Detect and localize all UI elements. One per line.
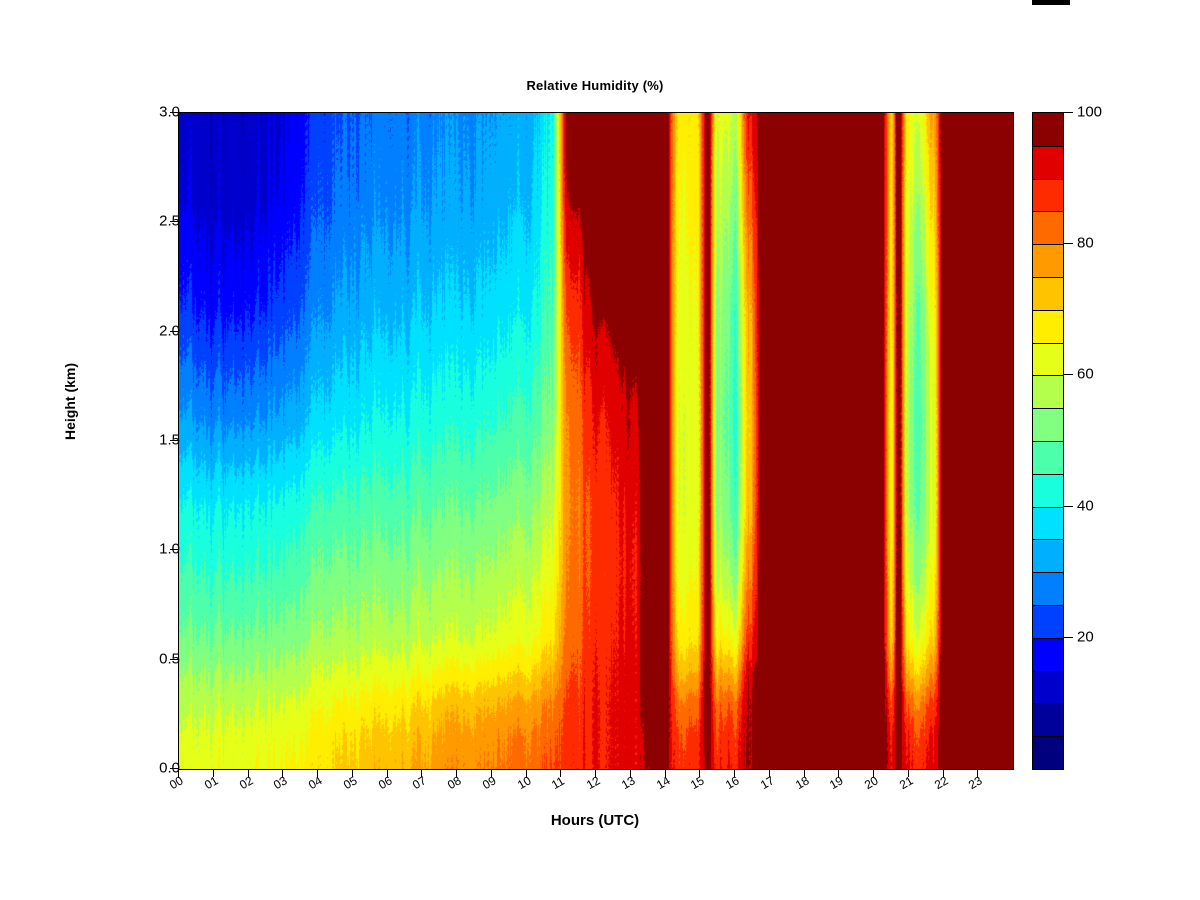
x-tick-label: 12: [584, 773, 603, 792]
colorbar-tick-mark: [1064, 637, 1073, 638]
heatmap-plot-area: [178, 112, 1014, 770]
relative-humidity-time-height-figure: Relative Humidity (%) 0.00.51.01.52.02.5…: [0, 0, 1200, 900]
y-tick-mark: [170, 221, 178, 222]
colorbar-tick-label: 80: [1077, 235, 1094, 252]
x-axis-title: Hours (UTC): [178, 812, 1012, 829]
x-tick-label: 05: [341, 773, 360, 792]
x-tick-label: 23: [966, 773, 985, 792]
x-tick-label: 17: [758, 773, 777, 792]
x-tick-label: 21: [897, 773, 916, 792]
x-tick-label: 06: [376, 773, 395, 792]
x-tick-label: 20: [862, 773, 881, 792]
colorbar-band: [1033, 146, 1063, 179]
y-tick-mark: [170, 549, 178, 550]
x-tick-label: 09: [480, 773, 499, 792]
colorbar-band: [1033, 474, 1063, 507]
x-tick-label: 07: [410, 773, 429, 792]
colorbar-band: [1033, 408, 1063, 441]
colorbar-tick-mark: [1064, 374, 1073, 375]
x-tick-label: 01: [202, 773, 221, 792]
y-tick-mark: [170, 659, 178, 660]
colorbar-band: [1033, 605, 1063, 638]
y-tick-mark: [170, 331, 178, 332]
colorbar-band: [1033, 375, 1063, 408]
colorbar-tick-mark: [1064, 506, 1073, 507]
x-tick-label: 16: [723, 773, 742, 792]
colorbar-tick-label: 20: [1077, 628, 1094, 645]
colorbar-band: [1033, 441, 1063, 474]
colorbar-band: [1033, 671, 1063, 704]
colorbar-tick-mark: [1064, 243, 1073, 244]
colorbar-band: [1033, 211, 1063, 244]
colorbar-band: [1033, 638, 1063, 671]
x-tick-label: 14: [654, 773, 673, 792]
colorbar-band: [1033, 179, 1063, 212]
relative-humidity-heatmap: [179, 113, 1013, 769]
colorbar-band: [1033, 507, 1063, 540]
top-edge-artifact: [1032, 0, 1070, 5]
colorbar-band: [1033, 736, 1063, 769]
colorbar-band: [1033, 113, 1063, 146]
x-tick-label: 08: [445, 773, 464, 792]
x-tick-label: 15: [688, 773, 707, 792]
x-tick-label: 04: [306, 773, 325, 792]
colorbar-tick-label: 60: [1077, 366, 1094, 383]
colorbar-band: [1033, 343, 1063, 376]
x-tick-label: 13: [619, 773, 638, 792]
y-axis-title: Height (km): [62, 363, 78, 440]
y-tick-mark: [170, 440, 178, 441]
y-tick-mark: [170, 112, 178, 113]
page-title: Relative Humidity (%): [178, 78, 1012, 93]
colorbar: [1032, 112, 1064, 770]
y-tick-mark: [170, 768, 178, 769]
colorbar-band: [1033, 277, 1063, 310]
x-tick-label: 02: [237, 773, 256, 792]
colorbar-tick-label: 40: [1077, 497, 1094, 514]
x-tick-label: 19: [827, 773, 846, 792]
colorbar-band: [1033, 244, 1063, 277]
colorbar-band: [1033, 572, 1063, 605]
colorbar-tick-label: 100: [1077, 104, 1102, 121]
x-tick-label: 11: [549, 774, 567, 792]
x-tick-label: 18: [793, 773, 812, 792]
colorbar-band: [1033, 703, 1063, 736]
x-tick-label: 03: [271, 773, 290, 792]
colorbar-band: [1033, 539, 1063, 572]
x-tick-label: 10: [515, 773, 534, 792]
colorbar-band: [1033, 310, 1063, 343]
colorbar-tick-mark: [1064, 112, 1073, 113]
x-tick-label: 22: [932, 773, 951, 792]
